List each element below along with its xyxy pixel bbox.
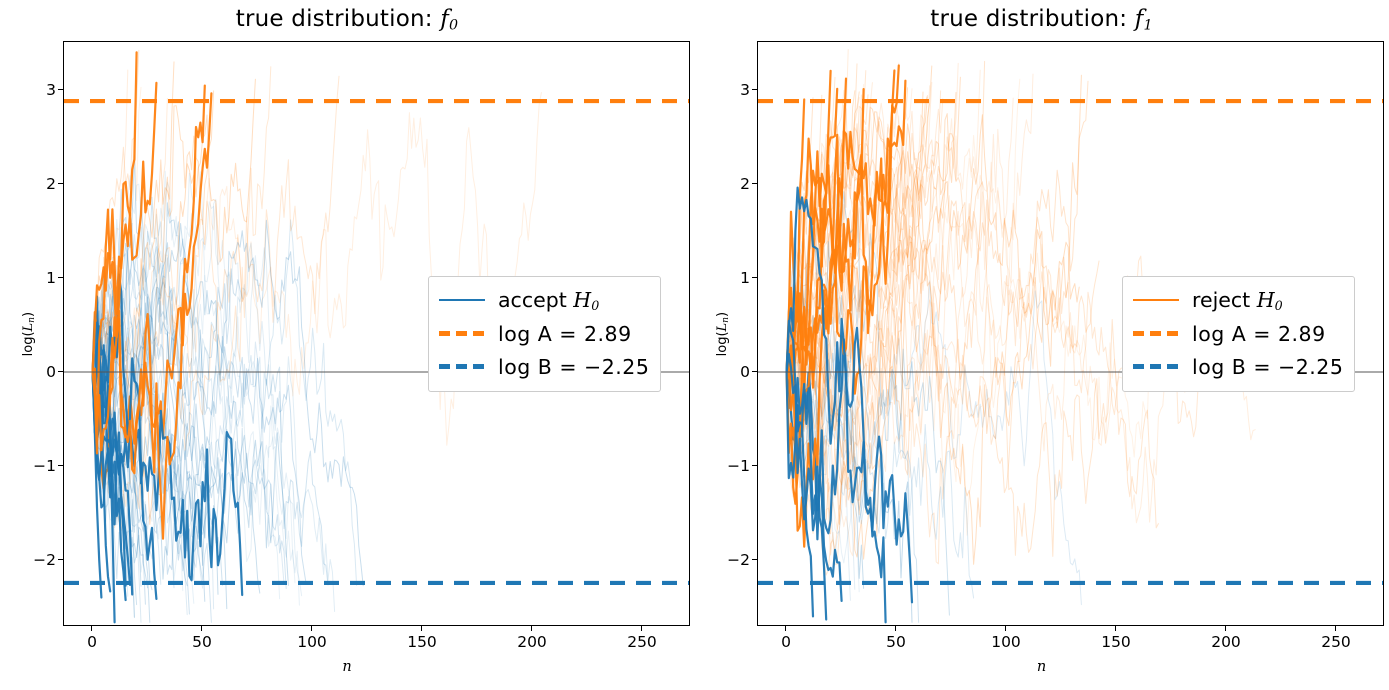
x-axis-label-left: n [0, 659, 694, 675]
x-tick-label: 100 [986, 633, 1026, 651]
panel-right-title-subscript: 1 [1143, 18, 1152, 34]
x-tick-label: 0 [770, 633, 802, 651]
legend-item-threshold-upper[interactable]: log A = 2.89 [439, 317, 649, 350]
panel-left-title: true distribution: f0 [0, 6, 694, 34]
legend-label-threshold-upper: log A = 2.89 [1192, 322, 1326, 346]
y-tick-label: 1 [26, 269, 56, 287]
x-tick-mark [421, 626, 422, 631]
legend-right[interactable]: reject H0 log A = 2.89 log B = −2.25 [1122, 276, 1355, 392]
legend-item-series[interactable]: reject H0 [1133, 284, 1343, 317]
x-tick-label: 150 [1096, 633, 1136, 651]
legend-label-threshold-upper: log A = 2.89 [498, 322, 632, 346]
legend-line-dashed-orange-icon [1133, 325, 1179, 343]
legend-item-series[interactable]: accept H0 [439, 284, 649, 317]
panel-left-title-subscript: 0 [449, 18, 458, 34]
legend-label-series: reject H0 [1192, 288, 1283, 313]
x-tick-label: 100 [292, 633, 332, 651]
x-tick-label: 150 [402, 633, 442, 651]
panel-left-title-symbol: f [440, 6, 449, 32]
x-tick-label: 250 [622, 633, 662, 651]
x-tick-mark [201, 626, 202, 631]
x-tick-mark [785, 626, 786, 631]
x-tick-label: 0 [76, 633, 108, 651]
y-tick-label: 0 [720, 363, 750, 381]
y-tick-label: −1 [714, 457, 750, 475]
x-tick-label: 200 [1206, 633, 1246, 651]
x-tick-mark [641, 626, 642, 631]
x-tick-mark [1225, 626, 1226, 631]
legend-label-threshold-lower: log B = −2.25 [1192, 355, 1343, 379]
x-axis-label-right: n [694, 659, 1389, 675]
x-tick-mark [1335, 626, 1336, 631]
x-tick-label: 250 [1316, 633, 1356, 651]
legend-item-threshold-upper[interactable]: log A = 2.89 [1133, 317, 1343, 350]
x-tick-mark [1115, 626, 1116, 631]
legend-line-solid-icon [439, 292, 485, 310]
y-tick-label: 1 [720, 269, 750, 287]
y-tick-label: 2 [720, 175, 750, 193]
panel-right: true distribution: f1 log(Ln) 3 2 1 0 −1… [694, 0, 1389, 690]
x-tick-label: 50 [880, 633, 912, 651]
figure-canvas: true distribution: f0 log(Ln) 3 2 1 0 −1… [0, 0, 1389, 690]
y-tick-label: 2 [26, 175, 56, 193]
panel-left: true distribution: f0 log(Ln) 3 2 1 0 −1… [0, 0, 694, 690]
y-tick-label: 3 [26, 81, 56, 99]
legend-line-solid-icon [1133, 292, 1179, 310]
y-tick-label: −2 [20, 551, 56, 569]
x-tick-mark [895, 626, 896, 631]
legend-item-threshold-lower[interactable]: log B = −2.25 [1133, 350, 1343, 383]
y-tick-label: −1 [20, 457, 56, 475]
y-tick-label: 3 [720, 81, 750, 99]
legend-label-threshold-lower: log B = −2.25 [498, 355, 649, 379]
x-tick-label: 50 [186, 633, 218, 651]
x-tick-mark [1005, 626, 1006, 631]
legend-label-series: accept H0 [498, 288, 599, 313]
y-tick-label: −2 [714, 551, 750, 569]
legend-line-dashed-orange-icon [439, 325, 485, 343]
y-tick-label: 0 [26, 363, 56, 381]
legend-left[interactable]: accept H0 log A = 2.89 log B = −2.25 [428, 276, 661, 392]
x-tick-mark [91, 626, 92, 631]
x-tick-mark [311, 626, 312, 631]
legend-line-dashed-blue-icon [1133, 358, 1179, 376]
x-tick-mark [531, 626, 532, 631]
legend-line-dashed-blue-icon [439, 358, 485, 376]
x-tick-label: 200 [512, 633, 552, 651]
legend-item-threshold-lower[interactable]: log B = −2.25 [439, 350, 649, 383]
panel-right-title: true distribution: f1 [694, 6, 1389, 34]
